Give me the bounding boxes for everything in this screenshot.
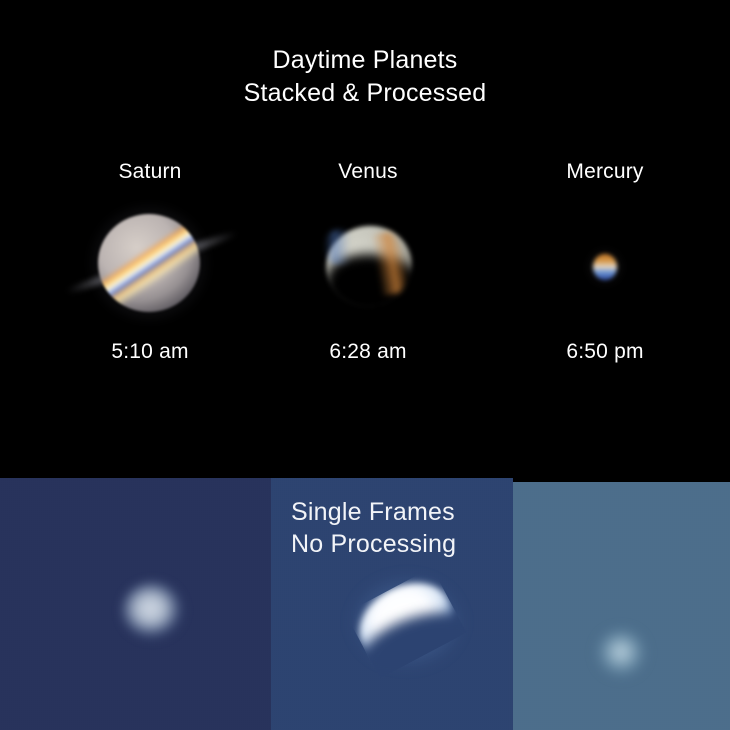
- planet-column-saturn: Saturn 5:10 am: [30, 160, 270, 184]
- planet-image-saturn: [30, 196, 270, 336]
- composite-title: Daytime Planets Stacked & Processed: [0, 44, 730, 110]
- title-line-1: Daytime Planets: [0, 44, 730, 77]
- planet-column-mercury: Mercury 6:50 pm: [485, 160, 725, 184]
- planet-label-mercury: Mercury: [485, 160, 725, 184]
- planet-image-mercury: [485, 196, 725, 336]
- processed-section: Daytime Planets Stacked & Processed Satu…: [0, 0, 730, 478]
- raw-frame-panel-saturn: [0, 478, 271, 730]
- caption-line-2: No Processing: [291, 528, 456, 560]
- planet-time-venus: 6:28 am: [248, 340, 488, 364]
- planet-image-venus: [248, 196, 488, 336]
- sensor-noise-overlay: [513, 482, 730, 730]
- raw-frame-panel-venus: Single Frames No Processing: [271, 478, 513, 730]
- title-line-2: Stacked & Processed: [0, 77, 730, 110]
- daytime-planets-composite: Daytime Planets Stacked & Processed Satu…: [0, 0, 730, 730]
- planet-time-mercury: 6:50 pm: [485, 340, 725, 364]
- planet-label-saturn: Saturn: [30, 160, 270, 184]
- planet-time-saturn: 5:10 am: [30, 340, 270, 364]
- planet-column-venus: Venus 6:28 am: [248, 160, 488, 184]
- raw-frame-panel-mercury: [513, 482, 730, 730]
- planet-label-venus: Venus: [248, 160, 488, 184]
- raw-frames-section: Single Frames No Processing: [0, 478, 730, 730]
- saturn-globe: [98, 214, 200, 312]
- raw-saturn-blob: [122, 582, 184, 640]
- caption-line-1: Single Frames: [291, 496, 456, 528]
- venus-cool-limb-fringe: [324, 230, 350, 264]
- raw-mercury-blob: [597, 630, 645, 676]
- raw-frames-caption: Single Frames No Processing: [291, 496, 456, 560]
- mercury-disk: [593, 254, 617, 280]
